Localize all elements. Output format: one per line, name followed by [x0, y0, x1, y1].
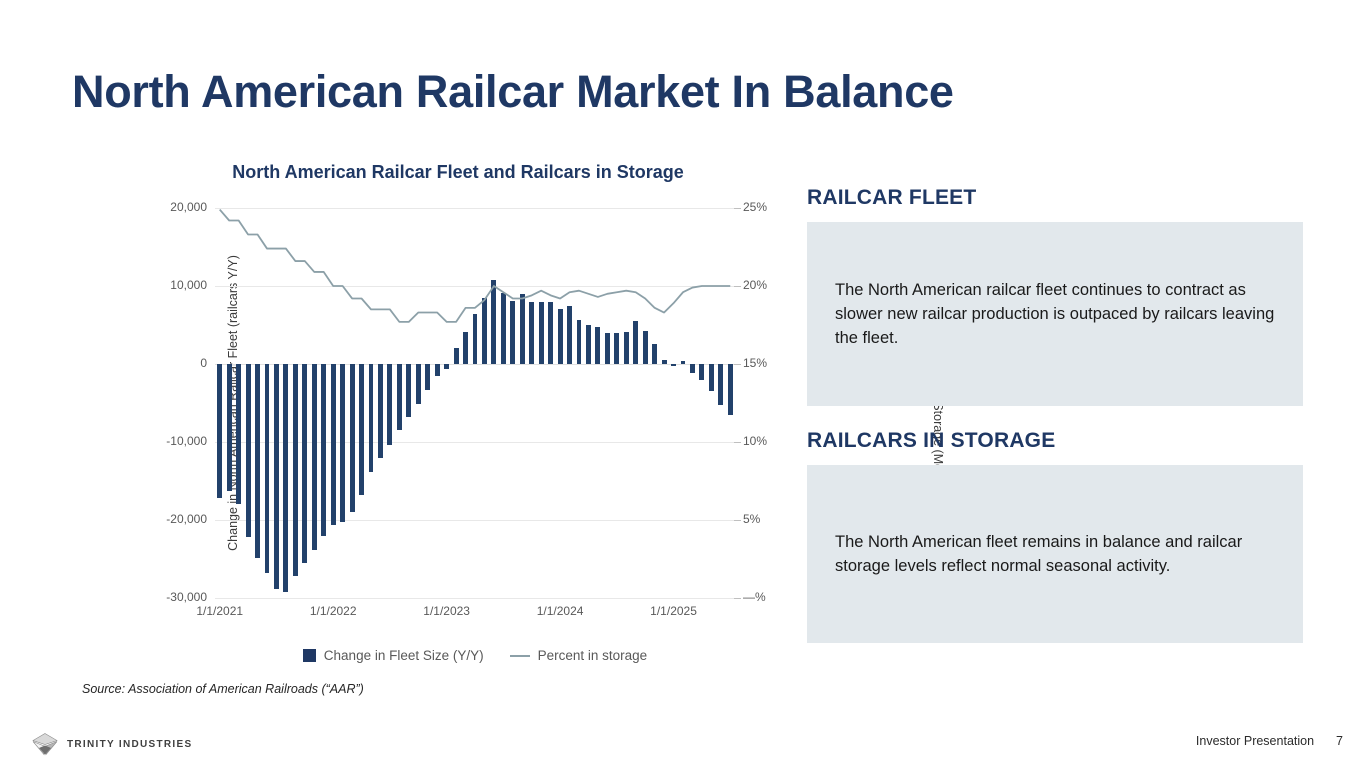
chart-plot-area: Change in North American Railcar Fleet (…	[215, 208, 735, 598]
page-title: North American Railcar Market In Balance	[72, 66, 954, 118]
legend-item-bars: Change in Fleet Size (Y/Y)	[303, 648, 484, 663]
panel-heading-railcars-in-storage: RAILCARS IN STORAGE	[807, 429, 1055, 453]
y-axis-left-tick-label: 20,000	[157, 200, 207, 214]
y-axis-right-tick	[734, 598, 741, 599]
footer-meta: Investor Presentation 7	[1196, 734, 1343, 748]
footer-logo: TRINITY INDUSTRIES	[32, 732, 192, 756]
y-axis-right-tick-label: 15%	[743, 356, 767, 370]
x-axis-tick-label: 1/1/2021	[196, 604, 243, 618]
y-axis-right-tick-label: 20%	[743, 278, 767, 292]
y-axis-right-tick	[734, 364, 741, 365]
panel-text-railcars-in-storage: The North American fleet remains in bala…	[807, 530, 1303, 579]
panel-body-railcar-fleet: The North American railcar fleet continu…	[807, 222, 1303, 406]
y-axis-right-tick-label: 5%	[743, 512, 760, 526]
panel-heading-railcar-fleet: RAILCAR FLEET	[807, 186, 976, 210]
y-axis-left-tick-label: 0	[157, 356, 207, 370]
x-axis-tick-label: 1/1/2024	[537, 604, 584, 618]
legend-line-swatch-icon	[510, 655, 530, 657]
y-axis-right-tick-label: —%	[743, 590, 766, 604]
footer-page-number: 7	[1336, 734, 1343, 748]
chart-title: North American Railcar Fleet and Railcar…	[138, 162, 778, 183]
chart-gridline	[215, 598, 735, 599]
y-axis-right-tick-label: 10%	[743, 434, 767, 448]
y-axis-left-tick-label: -10,000	[157, 434, 207, 448]
legend-label-line: Percent in storage	[538, 648, 648, 663]
trinity-logo-icon	[32, 732, 58, 756]
y-axis-left-tick-label: -20,000	[157, 512, 207, 526]
chart-source-note: Source: Association of American Railroad…	[82, 682, 364, 696]
y-axis-right-tick	[734, 208, 741, 209]
legend-item-line: Percent in storage	[510, 648, 648, 663]
panel-text-railcar-fleet: The North American railcar fleet continu…	[807, 278, 1303, 351]
x-axis-tick-label: 1/1/2022	[310, 604, 357, 618]
y-axis-right-tick	[734, 520, 741, 521]
slide: North American Railcar Market In Balance…	[0, 0, 1365, 768]
legend-label-bars: Change in Fleet Size (Y/Y)	[324, 648, 484, 663]
x-axis-tick-label: 1/1/2023	[423, 604, 470, 618]
y-axis-right-tick	[734, 286, 741, 287]
legend-bar-swatch-icon	[303, 649, 316, 662]
y-axis-left-tick-label: 10,000	[157, 278, 207, 292]
y-axis-right-tick	[734, 442, 741, 443]
chart-container: North American Railcar Fleet and Railcar…	[60, 150, 800, 710]
y-axis-left-tick-label: -30,000	[157, 590, 207, 604]
chart-line-series	[215, 208, 735, 598]
footer-logo-text: TRINITY INDUSTRIES	[67, 739, 192, 750]
panel-body-railcars-in-storage: The North American fleet remains in bala…	[807, 465, 1303, 643]
y-axis-right-tick-label: 25%	[743, 200, 767, 214]
footer-deck-name: Investor Presentation	[1196, 734, 1314, 748]
x-axis-tick-label: 1/1/2025	[650, 604, 697, 618]
chart-legend: Change in Fleet Size (Y/Y) Percent in st…	[215, 648, 735, 663]
